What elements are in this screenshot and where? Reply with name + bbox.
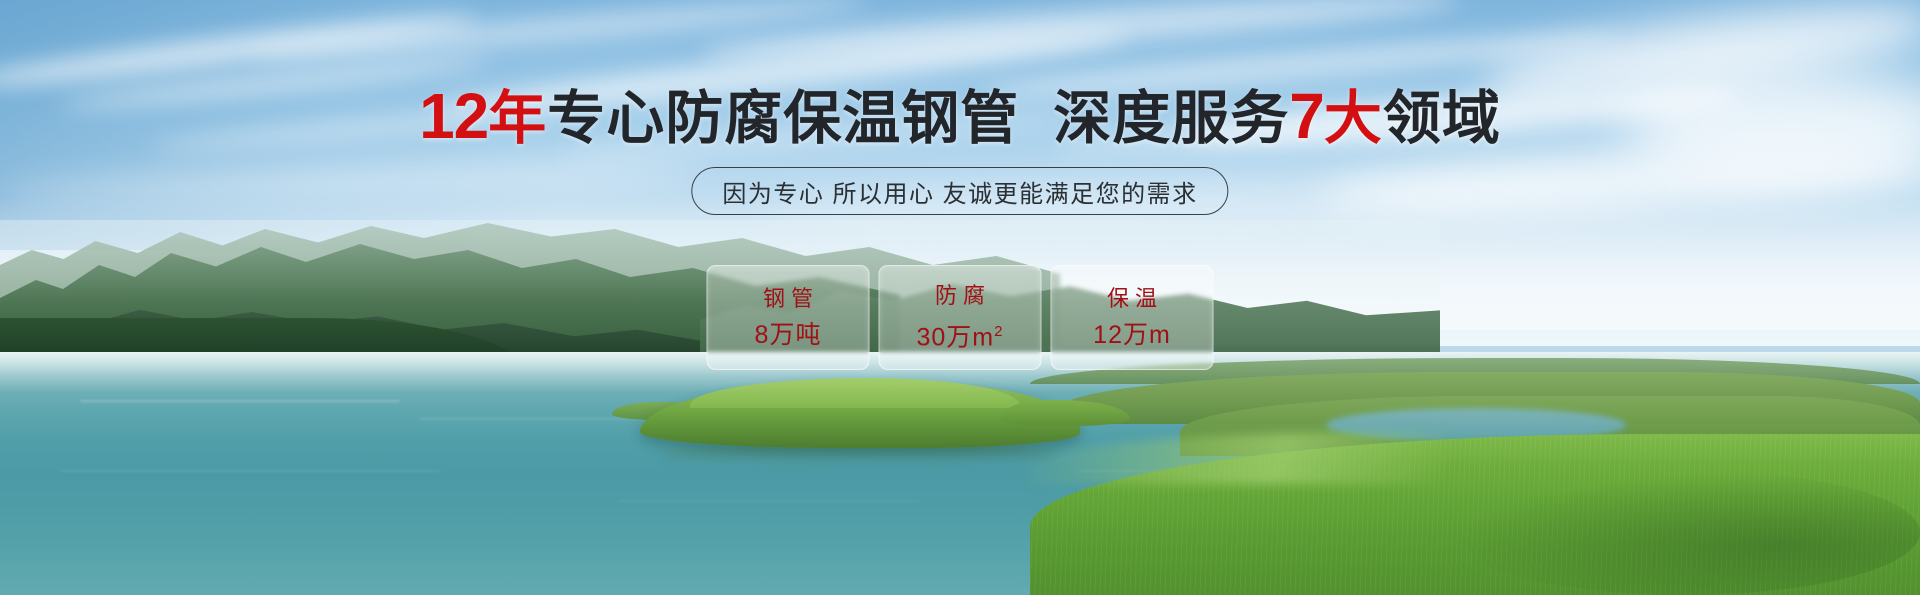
- headline-fields-text: 领域: [1383, 86, 1501, 151]
- lawn-shadow: [1450, 470, 1920, 595]
- stat-card-value-text: 30万m: [917, 323, 995, 351]
- stat-card-label: 防腐: [929, 285, 991, 307]
- water-ripple: [80, 400, 400, 402]
- banner-subtitle-pill: 因为专心 所以用心 友诚更能满足您的需求: [691, 167, 1228, 215]
- stat-card-insulation: 保温 12万m: [1051, 265, 1214, 370]
- headline-years-number: 12: [419, 80, 488, 152]
- stat-card-value: 8万吨: [755, 322, 822, 348]
- headline-years-unit: 年: [488, 86, 547, 151]
- stat-card-value-superscript: 2: [994, 323, 1003, 340]
- stat-card-value: 30万m2: [917, 319, 1004, 350]
- water-ripple: [620, 500, 920, 502]
- stat-card-value-text: 12万m: [1093, 321, 1171, 349]
- stat-card-group: 钢管 8万吨 防腐 30万m2 保温 12万m: [707, 265, 1214, 370]
- headline-service-text: 深度服务: [1053, 86, 1289, 151]
- headline-fields-unit: 大: [1324, 86, 1383, 151]
- headline-main-text: 专心防腐保温钢管: [547, 86, 1019, 151]
- banner-headline: 12年专心防腐保温钢管深度服务7大领域: [0, 86, 1920, 149]
- banner-subtitle-text: 因为专心 所以用心 友诚更能满足您的需求: [722, 174, 1197, 209]
- stat-card-value-text: 8万吨: [755, 321, 822, 349]
- water-ripple: [60, 470, 440, 472]
- stat-card-steel-pipe: 钢管 8万吨: [707, 265, 870, 370]
- stat-card-label: 钢管: [757, 288, 819, 310]
- hero-banner: 12年专心防腐保温钢管深度服务7大领域 因为专心 所以用心 友诚更能满足您的需求…: [0, 0, 1920, 595]
- stat-card-label: 保温: [1101, 288, 1163, 310]
- stat-card-anticorrosion: 防腐 30万m2: [879, 265, 1042, 370]
- stat-card-value: 12万m: [1093, 322, 1171, 348]
- headline-fields-number: 7: [1289, 80, 1324, 152]
